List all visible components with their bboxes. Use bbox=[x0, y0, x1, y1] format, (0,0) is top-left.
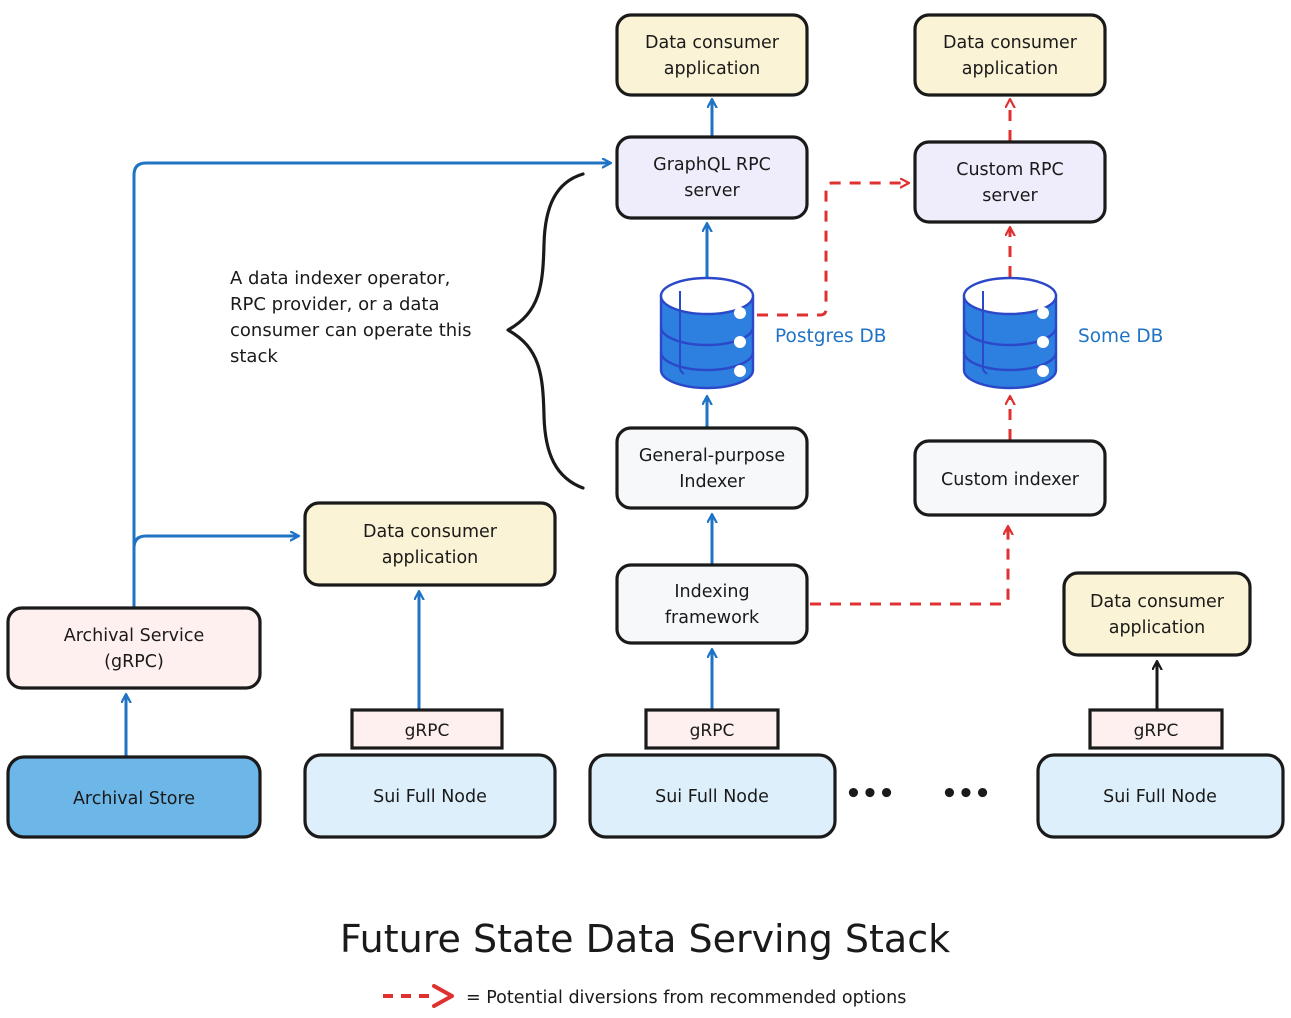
db-disk-indicator-icon bbox=[1037, 365, 1049, 377]
node-label: (gRPC) bbox=[104, 652, 164, 672]
node-label: framework bbox=[665, 608, 760, 628]
red-dashed-arrow-icon bbox=[383, 986, 452, 1006]
node-consumer-mid-left[interactable]: Data consumer application bbox=[305, 503, 555, 585]
node-label: server bbox=[684, 181, 740, 201]
nodes-layer: Data consumer application Data consumer … bbox=[8, 15, 1283, 837]
node-consumer-bottom-right[interactable]: Data consumer application bbox=[1064, 573, 1250, 655]
node-sui-full-node-3[interactable]: Sui Full Node bbox=[1038, 755, 1283, 837]
node-sui-full-node-1[interactable]: Sui Full Node bbox=[305, 755, 555, 837]
annotation-line: consumer can operate this bbox=[230, 320, 472, 341]
node-sui-full-node-2[interactable]: Sui Full Node bbox=[590, 755, 835, 837]
db-disk-indicator-icon bbox=[1037, 307, 1049, 319]
node-label: Custom indexer bbox=[941, 470, 1080, 490]
node-label: Sui Full Node bbox=[373, 787, 487, 807]
db-disk-indicator-icon bbox=[734, 336, 746, 348]
node-label: Sui Full Node bbox=[655, 787, 769, 807]
db-disk-indicator-icon bbox=[734, 365, 746, 377]
node-label: Archival Service bbox=[64, 626, 205, 646]
legend-text: = Potential diversions from recommended … bbox=[466, 988, 906, 1008]
annotation-text: A data indexer operator, RPC provider, o… bbox=[230, 268, 472, 367]
node-label: application bbox=[664, 59, 761, 79]
node-custom-rpc-server[interactable]: Custom RPC server bbox=[915, 142, 1105, 222]
node-label: Sui Full Node bbox=[1103, 787, 1217, 807]
node-consumer-top-right[interactable]: Data consumer application bbox=[915, 15, 1105, 95]
node-general-purpose-indexer[interactable]: General-purpose Indexer bbox=[617, 428, 807, 508]
postgres-db-label: Postgres DB bbox=[775, 326, 887, 347]
node-label: application bbox=[1109, 618, 1206, 638]
some-db-label: Some DB bbox=[1078, 326, 1163, 347]
node-grpc-tab-3[interactable]: gRPC bbox=[1090, 710, 1222, 748]
node-archival-store[interactable]: Archival Store bbox=[8, 757, 260, 837]
node-label: gRPC bbox=[690, 721, 735, 741]
node-indexing-framework[interactable]: Indexing framework bbox=[617, 565, 807, 643]
node-label: Data consumer bbox=[943, 33, 1078, 53]
edge-framework-to-custom-indexer bbox=[810, 528, 1008, 604]
node-label: Archival Store bbox=[73, 789, 195, 809]
annotation-curly-brace bbox=[508, 174, 583, 488]
node-label: gRPC bbox=[405, 721, 450, 741]
node-graphql-rpc-server[interactable]: GraphQL RPC server bbox=[617, 137, 807, 218]
annotation-line: stack bbox=[230, 346, 278, 367]
node-label: GraphQL RPC bbox=[653, 155, 771, 175]
node-label: Indexing bbox=[674, 582, 749, 602]
node-consumer-top-left[interactable]: Data consumer application bbox=[617, 15, 807, 95]
node-label: Indexer bbox=[679, 472, 745, 492]
node-custom-indexer[interactable]: Custom indexer bbox=[915, 441, 1105, 515]
db-disk-indicator-icon bbox=[734, 307, 746, 319]
node-grpc-tab-2[interactable]: gRPC bbox=[646, 710, 778, 748]
node-grpc-tab-1[interactable]: gRPC bbox=[352, 710, 502, 748]
diagram-title: Future State Data Serving Stack bbox=[340, 917, 950, 961]
node-label: Custom RPC bbox=[956, 160, 1064, 180]
db-disk-indicator-icon bbox=[1037, 336, 1049, 348]
node-postgres-db[interactable] bbox=[661, 278, 753, 388]
annotation-line: A data indexer operator, bbox=[230, 268, 450, 289]
node-label: General-purpose bbox=[639, 446, 785, 466]
edge-archival-to-consumer-mid bbox=[134, 536, 297, 548]
node-label: Data consumer bbox=[1090, 592, 1225, 612]
node-label: Data consumer bbox=[645, 33, 780, 53]
node-some-db[interactable] bbox=[964, 278, 1056, 388]
node-label: gRPC bbox=[1134, 721, 1179, 741]
ellipsis-right: ••• bbox=[941, 779, 991, 809]
annotation-line: RPC provider, or a data bbox=[230, 294, 440, 315]
diagram-canvas: Data consumer application Data consumer … bbox=[0, 0, 1291, 1018]
node-label: application bbox=[962, 59, 1059, 79]
node-label: Data consumer bbox=[363, 522, 498, 542]
node-archival-service[interactable]: Archival Service (gRPC) bbox=[8, 608, 260, 688]
legend: = Potential diversions from recommended … bbox=[383, 986, 906, 1008]
node-label: application bbox=[382, 548, 479, 568]
node-label: server bbox=[982, 186, 1038, 206]
ellipsis-left: ••• bbox=[845, 779, 895, 809]
